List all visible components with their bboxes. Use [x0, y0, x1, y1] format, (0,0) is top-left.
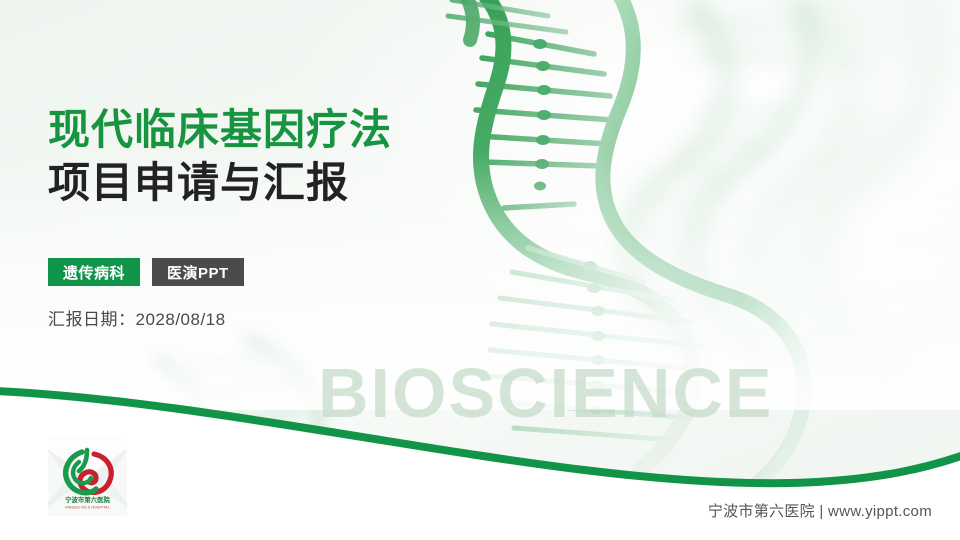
logo-name-en: NINGBO NO.6 HOSPITAL: [65, 506, 110, 510]
hospital-logo: 宁波市第六医院 NINGBO NO.6 HOSPITAL: [48, 437, 127, 516]
hospital-logo-icon: 宁波市第六医院 NINGBO NO.6 HOSPITAL: [48, 437, 127, 516]
title-line-secondary: 项目申请与汇报: [48, 157, 392, 210]
status-badge-template: 医演PPT: [152, 258, 244, 286]
footer-credit: 宁波市第六医院 | www.yippt.com: [708, 500, 932, 521]
report-date-label: 汇报日期：2028/08/18: [48, 305, 226, 330]
page-title: 现代临床基因疗法 项目申请与汇报: [48, 104, 392, 210]
status-badge-department: 遗传病科: [48, 258, 140, 286]
badge-group: 遗传病科 医演PPT: [48, 258, 244, 286]
presentation-cover-slide: BIOSCIENCE 现代临床基因疗法 项目申请与汇报 遗传病科 医演PPT 汇…: [0, 0, 960, 540]
title-line-primary: 现代临床基因疗法: [48, 104, 392, 157]
logo-name-cn: 宁波市第六医院: [65, 495, 110, 504]
